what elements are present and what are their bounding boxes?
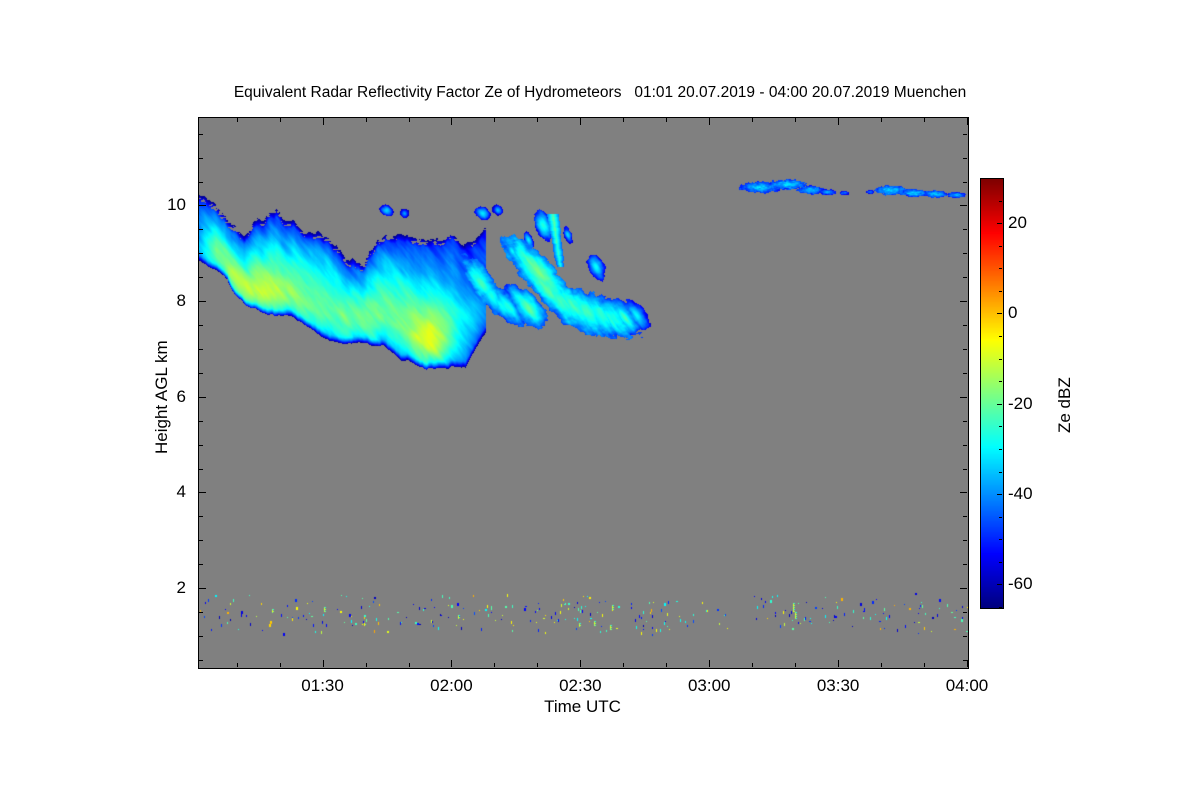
x-tick-major [838, 660, 839, 667]
y-tick-minor [199, 253, 203, 254]
x-tick-minor-top [237, 118, 238, 122]
y-tick-label: 6 [177, 388, 186, 405]
y-tick-major-right [960, 588, 967, 589]
y-tick-minor [199, 540, 203, 541]
x-tick-minor-top [795, 118, 796, 122]
y-tick-minor [199, 325, 203, 326]
y-tick-major [199, 397, 206, 398]
y-tick-minor-right [963, 445, 967, 446]
colorbar-tick-minor [999, 359, 1002, 360]
colorbar-tick-major [997, 584, 1002, 585]
colorbar-tick-major [997, 313, 1002, 314]
y-tick-label: 4 [177, 483, 186, 500]
y-tick-minor-right [963, 564, 967, 565]
colorbar-tick-label: 20 [1008, 214, 1027, 231]
y-tick-minor-right [963, 469, 967, 470]
y-tick-major [199, 492, 206, 493]
y-tick-minor-right [963, 349, 967, 350]
y-tick-minor-right [963, 516, 967, 517]
colorbar-gradient [981, 179, 1003, 608]
colorbar-tick-minor [999, 268, 1002, 269]
colorbar-tick-minor [999, 291, 1002, 292]
y-tick-minor-right [963, 373, 967, 374]
x-tick-minor [924, 663, 925, 667]
x-tick-label: 02:30 [535, 677, 625, 694]
x-tick-label: 04:00 [922, 677, 1012, 694]
x-tick-minor-top [537, 118, 538, 122]
x-tick-minor-top [881, 118, 882, 122]
y-tick-minor [199, 182, 203, 183]
y-tick-major-right [960, 397, 967, 398]
colorbar-tick-minor [999, 472, 1002, 473]
y-tick-minor-right [963, 636, 967, 637]
y-tick-minor [199, 158, 203, 159]
y-tick-major-right [960, 492, 967, 493]
x-tick-major [323, 660, 324, 667]
y-tick-minor [199, 469, 203, 470]
colorbar-tick-major [997, 494, 1002, 495]
x-tick-label: 01:30 [278, 677, 368, 694]
colorbar-tick-minor [999, 246, 1002, 247]
y-tick-minor [199, 373, 203, 374]
x-tick-minor [237, 663, 238, 667]
x-tick-minor-top [623, 118, 624, 122]
colorbar-tick-minor [999, 539, 1002, 540]
y-tick-minor [199, 564, 203, 565]
plot-area [198, 117, 969, 669]
colorbar-tick-minor [999, 336, 1002, 337]
colorbar-tick-minor [999, 607, 1002, 608]
colorbar [980, 178, 1004, 609]
x-tick-minor-top [280, 118, 281, 122]
y-tick-major-right [960, 301, 967, 302]
x-tick-major-top [580, 118, 581, 125]
colorbar-tick-minor [999, 562, 1002, 563]
y-tick-minor [199, 445, 203, 446]
x-tick-minor-top [924, 118, 925, 122]
x-tick-major-top [709, 118, 710, 125]
radar-reflectivity-heatmap [199, 118, 968, 668]
x-tick-minor [494, 663, 495, 667]
colorbar-tick-label: -20 [1008, 395, 1033, 412]
x-tick-label: 02:00 [406, 677, 496, 694]
y-tick-major [199, 588, 206, 589]
y-tick-label: 8 [177, 292, 186, 309]
x-tick-minor-top [409, 118, 410, 122]
colorbar-tick-major [997, 404, 1002, 405]
x-tick-major-top [967, 118, 968, 125]
colorbar-tick-label: 0 [1008, 304, 1017, 321]
y-tick-minor-right [963, 277, 967, 278]
y-tick-minor-right [963, 612, 967, 613]
x-tick-minor [795, 663, 796, 667]
colorbar-tick-minor [999, 178, 1002, 179]
colorbar-tick-minor [999, 449, 1002, 450]
x-tick-minor [366, 663, 367, 667]
colorbar-tick-minor [999, 517, 1002, 518]
x-tick-minor [280, 663, 281, 667]
x-tick-major-top [838, 118, 839, 125]
x-tick-minor-top [666, 118, 667, 122]
x-tick-minor-top [366, 118, 367, 122]
y-tick-minor [199, 229, 203, 230]
y-tick-minor [199, 277, 203, 278]
y-tick-minor-right [963, 229, 967, 230]
y-tick-minor-right [963, 325, 967, 326]
y-axis-title: Height AGL km [152, 340, 172, 454]
x-tick-minor [881, 663, 882, 667]
x-tick-minor [623, 663, 624, 667]
colorbar-tick-major [997, 223, 1002, 224]
y-tick-minor-right [963, 158, 967, 159]
x-tick-label: 03:30 [793, 677, 883, 694]
y-tick-minor [199, 636, 203, 637]
x-tick-minor [666, 663, 667, 667]
x-axis-title: Time UTC [198, 697, 967, 717]
colorbar-axis-title: Ze dBZ [1055, 377, 1075, 433]
y-tick-minor-right [963, 134, 967, 135]
x-tick-minor [537, 663, 538, 667]
colorbar-tick-label: -40 [1008, 485, 1033, 502]
y-tick-minor [199, 660, 203, 661]
y-tick-minor-right [963, 421, 967, 422]
y-tick-major [199, 205, 206, 206]
chart-title: Equivalent Radar Reflectivity Factor Ze … [0, 84, 1200, 102]
colorbar-tick-minor [999, 201, 1002, 202]
y-tick-minor-right [963, 182, 967, 183]
x-tick-minor [752, 663, 753, 667]
y-tick-major-right [960, 205, 967, 206]
y-tick-label: 2 [177, 579, 186, 596]
y-tick-label: 10 [167, 196, 186, 213]
radar-reflectivity-figure: Equivalent Radar Reflectivity Factor Ze … [0, 0, 1200, 800]
x-tick-major [451, 660, 452, 667]
x-tick-major-top [451, 118, 452, 125]
colorbar-tick-label: -60 [1008, 575, 1033, 592]
x-tick-major [709, 660, 710, 667]
y-tick-minor [199, 612, 203, 613]
colorbar-tick-minor [999, 426, 1002, 427]
x-tick-major [967, 660, 968, 667]
colorbar-tick-minor [999, 381, 1002, 382]
y-tick-minor [199, 516, 203, 517]
y-tick-minor [199, 421, 203, 422]
y-tick-minor-right [963, 540, 967, 541]
x-tick-major [580, 660, 581, 667]
x-tick-label: 03:00 [664, 677, 754, 694]
y-tick-minor [199, 134, 203, 135]
y-tick-minor [199, 349, 203, 350]
y-tick-minor-right [963, 253, 967, 254]
x-tick-minor [409, 663, 410, 667]
x-tick-minor-top [494, 118, 495, 122]
x-tick-major-top [323, 118, 324, 125]
x-tick-minor-top [752, 118, 753, 122]
y-tick-major [199, 301, 206, 302]
